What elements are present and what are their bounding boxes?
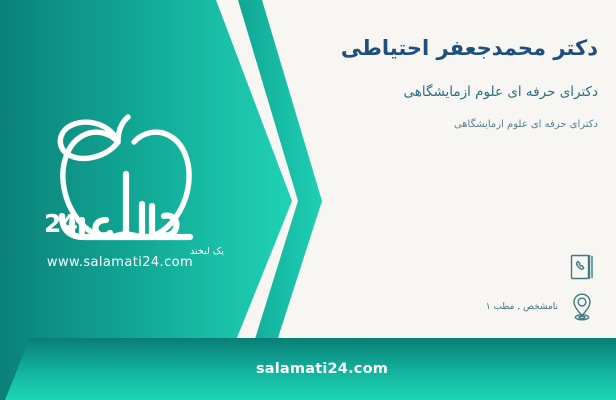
contact-list: نامشخص , مطب ۱ xyxy=(278,250,598,330)
contact-row-phone[interactable] xyxy=(278,250,598,284)
specialty-secondary: دکترای حرفه ای علوم ازمایشگاهی xyxy=(248,117,598,132)
contact-address-label: نامشخص , مطب ۱ xyxy=(486,301,558,314)
footer-website[interactable]: salamati24.com xyxy=(0,338,616,400)
logo-brand-wordmark xyxy=(62,174,190,237)
doctor-name: دکتر محمدجعفر احتیاطی xyxy=(248,34,598,62)
svg-text:24: 24 xyxy=(44,209,77,238)
contact-row-address[interactable]: نامشخص , مطب ۱ xyxy=(278,290,598,324)
logo-tagline: برای حتی یک لبخند xyxy=(190,246,226,257)
specialty-primary: دکترای حرفه ای علوم ازمایشگاهی xyxy=(248,82,598,102)
profile-text-block: دکتر محمدجعفر احتیاطی دکترای حرفه ای علو… xyxy=(248,34,598,132)
phone-book-icon[interactable] xyxy=(566,250,598,284)
profile-card: 24 برای حتی یک لبخند www.salamati24.com … xyxy=(0,0,616,400)
logo-website: www.salamati24.com xyxy=(47,255,193,266)
salamati24-logo: 24 برای حتی یک لبخند www.salamati24.com xyxy=(14,108,226,266)
map-pin-icon[interactable] xyxy=(566,290,598,324)
logo-24-badge: 24 xyxy=(44,209,77,238)
